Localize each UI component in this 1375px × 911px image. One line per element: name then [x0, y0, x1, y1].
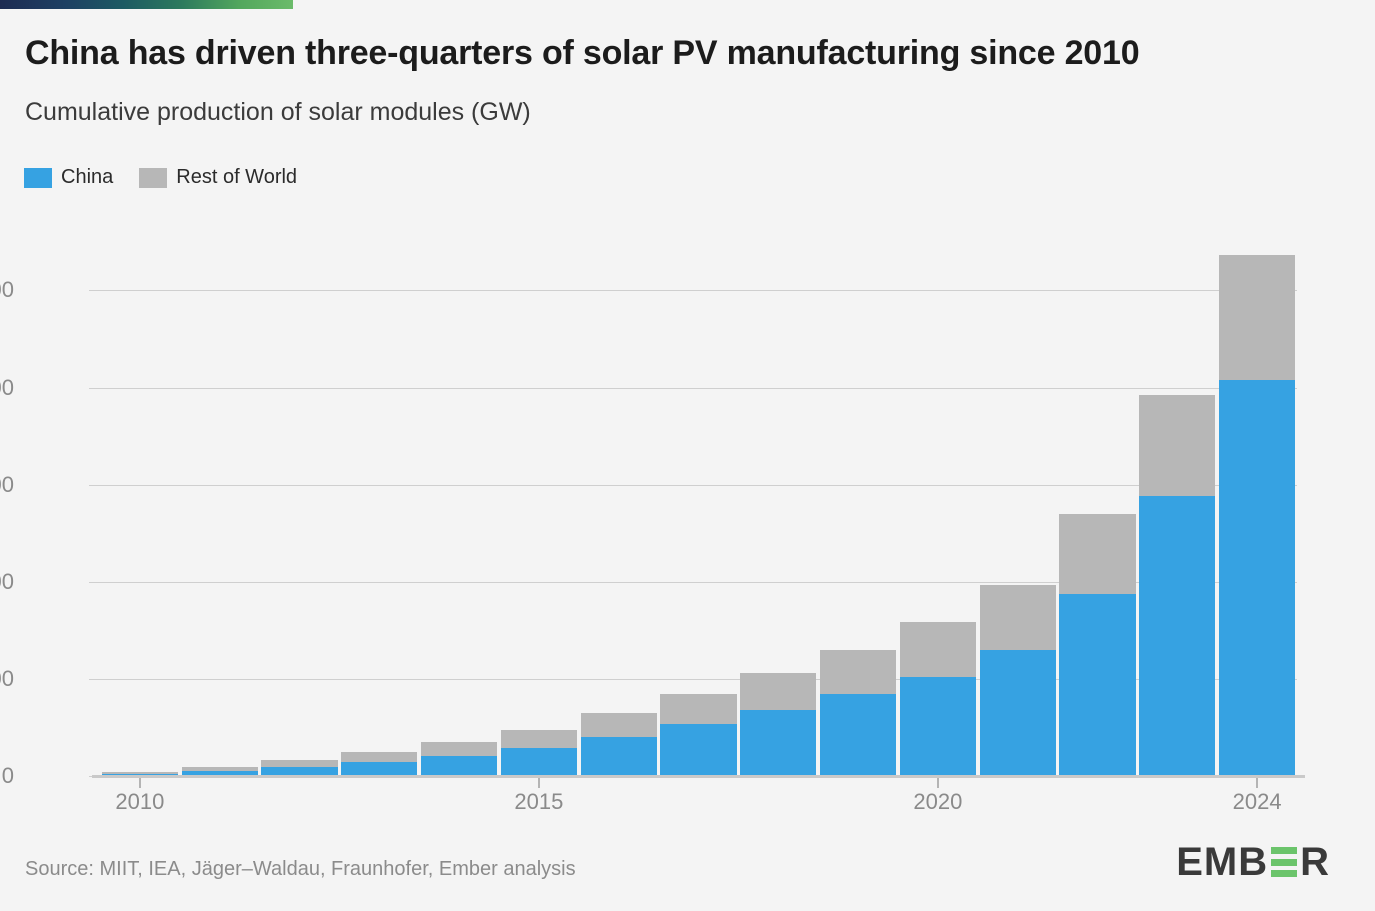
bar-group[interactable]: [1139, 395, 1215, 776]
chart-title: China has driven three-quarters of solar…: [25, 34, 1139, 73]
gridline: [100, 290, 1297, 291]
ember-logo: EMB R: [1176, 840, 1330, 884]
bar-segment-china[interactable]: [341, 762, 417, 776]
bar-segment-china[interactable]: [1139, 496, 1215, 776]
x-axis-tick-mark: [937, 777, 939, 788]
bar-segment-china[interactable]: [581, 737, 657, 776]
bar-group[interactable]: [501, 730, 577, 776]
y-axis-tick-label: 0: [2, 763, 14, 789]
ember-logo-text-2: R: [1300, 842, 1330, 882]
y-axis-tick-mark: [89, 485, 100, 486]
bar-group[interactable]: [1219, 255, 1295, 776]
plot-area: 05001000150020002500 2010201520202024: [100, 240, 1297, 776]
source-note: Source: MIIT, IEA, Jäger–Waldau, Fraunho…: [25, 858, 576, 881]
bar-segment-china[interactable]: [1059, 594, 1135, 776]
ember-logo-text-1: EMB: [1176, 842, 1268, 882]
bar-segment-china[interactable]: [421, 756, 497, 776]
y-axis-tick-label: 500: [0, 666, 14, 692]
bar-segment-china[interactable]: [820, 694, 896, 776]
bar-segment-rest-of-world[interactable]: [261, 760, 337, 767]
bar-group[interactable]: [341, 752, 417, 776]
y-axis-tick-label: 1500: [0, 472, 14, 498]
bar-segment-china[interactable]: [900, 677, 976, 776]
chart-subtitle: Cumulative production of solar modules (…: [25, 98, 531, 127]
x-axis-tick-label: 2010: [115, 789, 164, 815]
y-axis-tick-mark: [89, 582, 100, 583]
bar-segment-rest-of-world[interactable]: [501, 730, 577, 747]
y-axis-tick-label: 2000: [0, 375, 14, 401]
x-axis-line: [92, 775, 1305, 778]
x-axis-tick-mark: [1256, 777, 1258, 788]
ember-logo-e-icon: [1271, 847, 1297, 877]
bar-segment-china[interactable]: [660, 724, 736, 776]
bar-segment-rest-of-world[interactable]: [820, 650, 896, 694]
bar-segment-rest-of-world[interactable]: [581, 713, 657, 737]
y-axis-tick-mark: [89, 290, 100, 291]
bar-group[interactable]: [421, 742, 497, 776]
x-axis-tick-label: 2024: [1233, 789, 1282, 815]
bar-segment-china[interactable]: [1219, 380, 1295, 776]
gridline: [100, 388, 1297, 389]
legend-item-china[interactable]: China: [24, 166, 113, 189]
legend-swatch-rest-of-world: [139, 168, 167, 188]
gridline: [100, 485, 1297, 486]
x-axis-tick-mark: [139, 777, 141, 788]
bar-segment-rest-of-world[interactable]: [421, 742, 497, 756]
x-axis-tick-label: 2020: [913, 789, 962, 815]
legend-label-china: China: [61, 166, 113, 189]
bar-group[interactable]: [740, 673, 816, 776]
chart-legend: China Rest of World: [24, 166, 297, 189]
x-axis-tick-mark: [538, 777, 540, 788]
bar-group[interactable]: [980, 585, 1056, 776]
y-axis-tick-mark: [89, 388, 100, 389]
bar-segment-china[interactable]: [501, 748, 577, 776]
bar-segment-rest-of-world[interactable]: [102, 772, 178, 774]
bar-segment-rest-of-world[interactable]: [1059, 514, 1135, 594]
y-axis-tick-label: 1000: [0, 569, 14, 595]
bar-segment-china[interactable]: [980, 650, 1056, 776]
bar-segment-china[interactable]: [740, 710, 816, 776]
bar-group[interactable]: [900, 622, 976, 776]
chart-page: China has driven three-quarters of solar…: [0, 0, 1375, 911]
legend-item-rest-of-world[interactable]: Rest of World: [139, 166, 297, 189]
bar-segment-rest-of-world[interactable]: [1139, 395, 1215, 495]
bar-group[interactable]: [660, 694, 736, 776]
brand-accent-bar: [0, 0, 293, 9]
bar-segment-rest-of-world[interactable]: [1219, 255, 1295, 381]
y-axis-tick-label: 2500: [0, 277, 14, 303]
x-axis-tick-label: 2015: [514, 789, 563, 815]
bar-group[interactable]: [581, 713, 657, 776]
bar-segment-rest-of-world[interactable]: [900, 622, 976, 677]
bar-segment-rest-of-world[interactable]: [341, 752, 417, 762]
legend-swatch-china: [24, 168, 52, 188]
bar-group[interactable]: [261, 760, 337, 776]
bar-segment-rest-of-world[interactable]: [740, 673, 816, 710]
bar-group[interactable]: [820, 650, 896, 776]
bar-segment-rest-of-world[interactable]: [182, 767, 258, 771]
bar-segment-rest-of-world[interactable]: [660, 694, 736, 724]
y-axis-tick-mark: [89, 679, 100, 680]
bar-group[interactable]: [1059, 514, 1135, 776]
bar-segment-rest-of-world[interactable]: [980, 585, 1056, 650]
legend-label-rest-of-world: Rest of World: [176, 166, 297, 189]
